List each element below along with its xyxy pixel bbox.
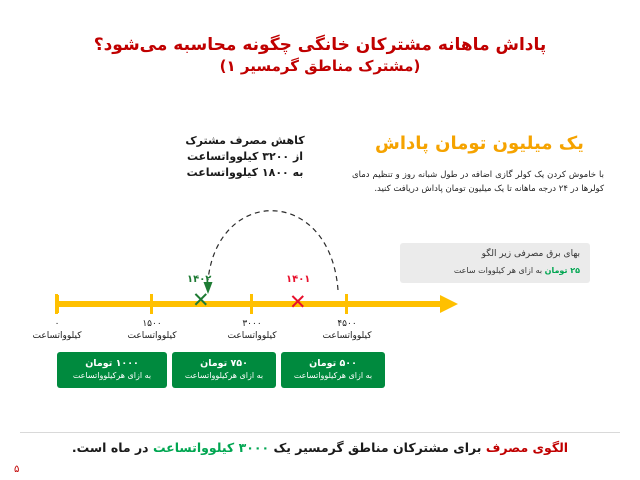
axis-label-1-unit: کیلوواتساعت bbox=[110, 330, 194, 342]
price-chip-1000-price: ۱۰۰۰ تومان bbox=[57, 357, 167, 370]
axis-label-0: ۰ کیلوواتساعت bbox=[15, 318, 99, 342]
price-chip-1000-per: به ازای هرکیلوواتساعت bbox=[57, 370, 167, 382]
axis-arrow-icon bbox=[440, 295, 458, 313]
price-chip-750-price: ۷۵۰ تومان bbox=[172, 357, 276, 370]
reduction-arc bbox=[190, 168, 360, 298]
axis-tick-2 bbox=[250, 294, 253, 314]
footer-part-4: در ماه است. bbox=[72, 440, 153, 455]
marker-1401-glyph: ✕ bbox=[289, 292, 307, 313]
reduction-line-2: از ۳۲۰۰ کیلوواتساعت bbox=[175, 149, 315, 165]
axis-label-3: ۴۵۰۰ کیلوواتساعت bbox=[305, 318, 389, 342]
price-chip-750: ۷۵۰ تومان به ازای هرکیلوواتساعت bbox=[172, 352, 276, 388]
axis-label-1: ۱۵۰۰ کیلوواتساعت bbox=[110, 318, 194, 342]
consumption-axis: ۰ کیلوواتساعت ۱۵۰۰ کیلوواتساعت ۳۰۰۰ کیلو… bbox=[55, 290, 465, 320]
title-line-2: (مشترک مناطق گرمسیر ۱) bbox=[0, 56, 640, 77]
price-box-rest: به ازای هر کیلووات ساعت bbox=[454, 266, 542, 275]
footer-part-3: ۳۰۰۰ کیلوواتساعت bbox=[153, 440, 269, 455]
price-box-detail: ۲۵ تومان به ازای هر کیلووات ساعت bbox=[454, 266, 580, 275]
axis-label-3-value: ۴۵۰۰ bbox=[305, 318, 389, 330]
reward-heading: یک میلیون تومان پاداش bbox=[357, 133, 602, 154]
slide-canvas: پاداش ماهانه مشترکان خانگی چگونه محاسبه … bbox=[0, 0, 640, 480]
price-chip-500: ۵۰۰ تومان به ازای هرکیلوواتساعت bbox=[281, 352, 385, 388]
axis-label-0-unit: کیلوواتساعت bbox=[15, 330, 99, 342]
footer-note: الگوی مصرف برای مشترکان مناطق گرمسیر یک … bbox=[0, 440, 640, 455]
axis-tick-0 bbox=[55, 294, 58, 314]
dashed-arc-icon bbox=[190, 168, 360, 298]
reduction-line-1: کاهش مصرف مشترک bbox=[175, 133, 315, 149]
marker-1401-label: ۱۴۰۱ bbox=[286, 274, 310, 285]
title-line-1: پاداش ماهانه مشترکان خانگی چگونه محاسبه … bbox=[0, 34, 640, 56]
price-box-amount: ۲۵ تومان bbox=[545, 266, 580, 275]
price-chip-1000: ۱۰۰۰ تومان به ازای هرکیلوواتساعت bbox=[57, 352, 167, 388]
marker-1402-glyph: ✕ bbox=[192, 290, 210, 311]
price-chip-500-price: ۵۰۰ تومان bbox=[281, 357, 385, 370]
price-box-title: بهای برق مصرفی زیر الگو bbox=[482, 249, 580, 259]
axis-label-1-value: ۱۵۰۰ bbox=[110, 318, 194, 330]
axis-tick-3 bbox=[345, 294, 348, 314]
reward-description: با خاموش کردن یک کولر گازی اضافه در طول … bbox=[352, 168, 604, 196]
axis-label-2-unit: کیلوواتساعت bbox=[210, 330, 294, 342]
footer-divider bbox=[20, 432, 620, 433]
marker-1402-label: ۱۴۰۲ bbox=[187, 274, 211, 285]
price-chip-500-per: به ازای هرکیلوواتساعت bbox=[281, 370, 385, 382]
axis-tick-1 bbox=[150, 294, 153, 314]
page-number: ۵ bbox=[14, 464, 19, 475]
axis-label-3-unit: کیلوواتساعت bbox=[305, 330, 389, 342]
footer-part-2: برای مشترکان مناطق گرمسیر یک bbox=[269, 440, 486, 455]
price-chip-750-per: به ازای هرکیلوواتساعت bbox=[172, 370, 276, 382]
electricity-price-box: بهای برق مصرفی زیر الگو ۲۵ تومان به ازای… bbox=[400, 243, 590, 283]
page-title: پاداش ماهانه مشترکان خانگی چگونه محاسبه … bbox=[0, 34, 640, 77]
axis-label-0-value: ۰ bbox=[15, 318, 99, 330]
footer-part-1: الگوی مصرف bbox=[486, 440, 568, 455]
axis-label-2-value: ۳۰۰۰ bbox=[210, 318, 294, 330]
axis-label-2: ۳۰۰۰ کیلوواتساعت bbox=[210, 318, 294, 342]
